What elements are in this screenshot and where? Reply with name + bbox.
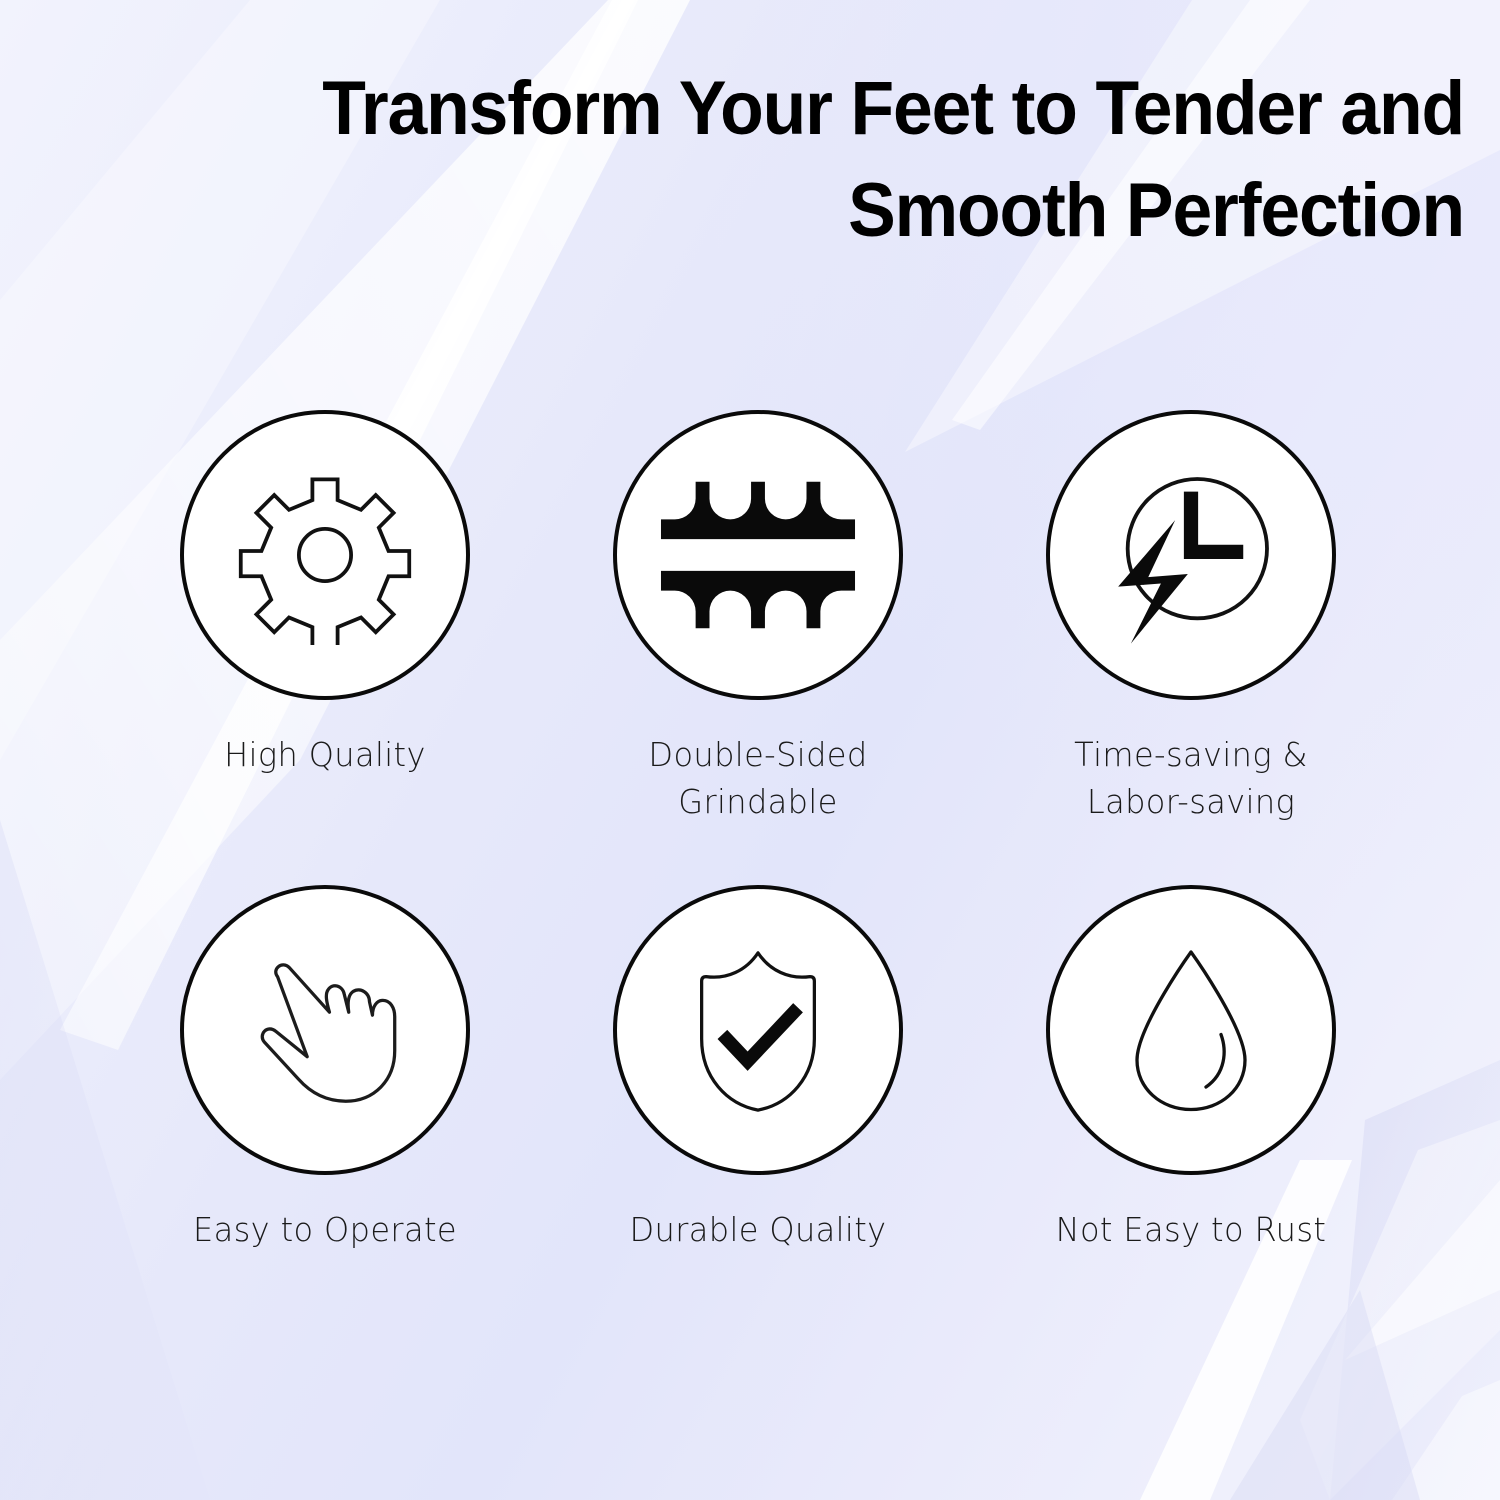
feature-badge [1046,885,1336,1175]
feature-item-easy-to-operate: Easy to Operate [108,885,541,1360]
promo-infographic: Transform Your Feet to Tender and Smooth… [0,0,1500,1500]
feature-item-time-saving: Time-saving & Labor-saving [975,410,1408,885]
headline-line-2: Smooth Perfection [88,160,1464,262]
feature-badge [613,885,903,1175]
double-sided-grinding-file-icon [659,475,857,635]
headline-line-1: Transform Your Feet to Tender and [88,58,1464,160]
feature-label: Not Easy to Rust [1031,1207,1351,1254]
feature-badge [1046,410,1336,700]
feature-badge [613,410,903,700]
shield-check-icon [674,941,842,1119]
feature-label: Time-saving & Labor-saving [1031,732,1351,826]
feature-label: Easy to Operate [165,1207,485,1254]
feature-label: Double-Sided Grindable [598,732,918,826]
headline: Transform Your Feet to Tender and Smooth… [0,58,1500,262]
feature-label: High Quality [165,732,485,779]
clock-lightning-icon [1096,460,1286,650]
feature-item-high-quality: High Quality [108,410,541,885]
feature-badge [180,885,470,1175]
water-droplet-icon [1116,940,1266,1120]
hand-gesture-icon [236,941,414,1119]
feature-label: Durable Quality [598,1207,918,1254]
feature-item-durable-quality: Durable Quality [541,885,974,1360]
gear-icon [235,465,415,645]
feature-item-double-sided-grindable: Double-Sided Grindable [541,410,974,885]
feature-badge [180,410,470,700]
feature-item-not-easy-to-rust: Not Easy to Rust [975,885,1408,1360]
feature-grid: High Quality Double-Sided Grindable [108,410,1408,1360]
